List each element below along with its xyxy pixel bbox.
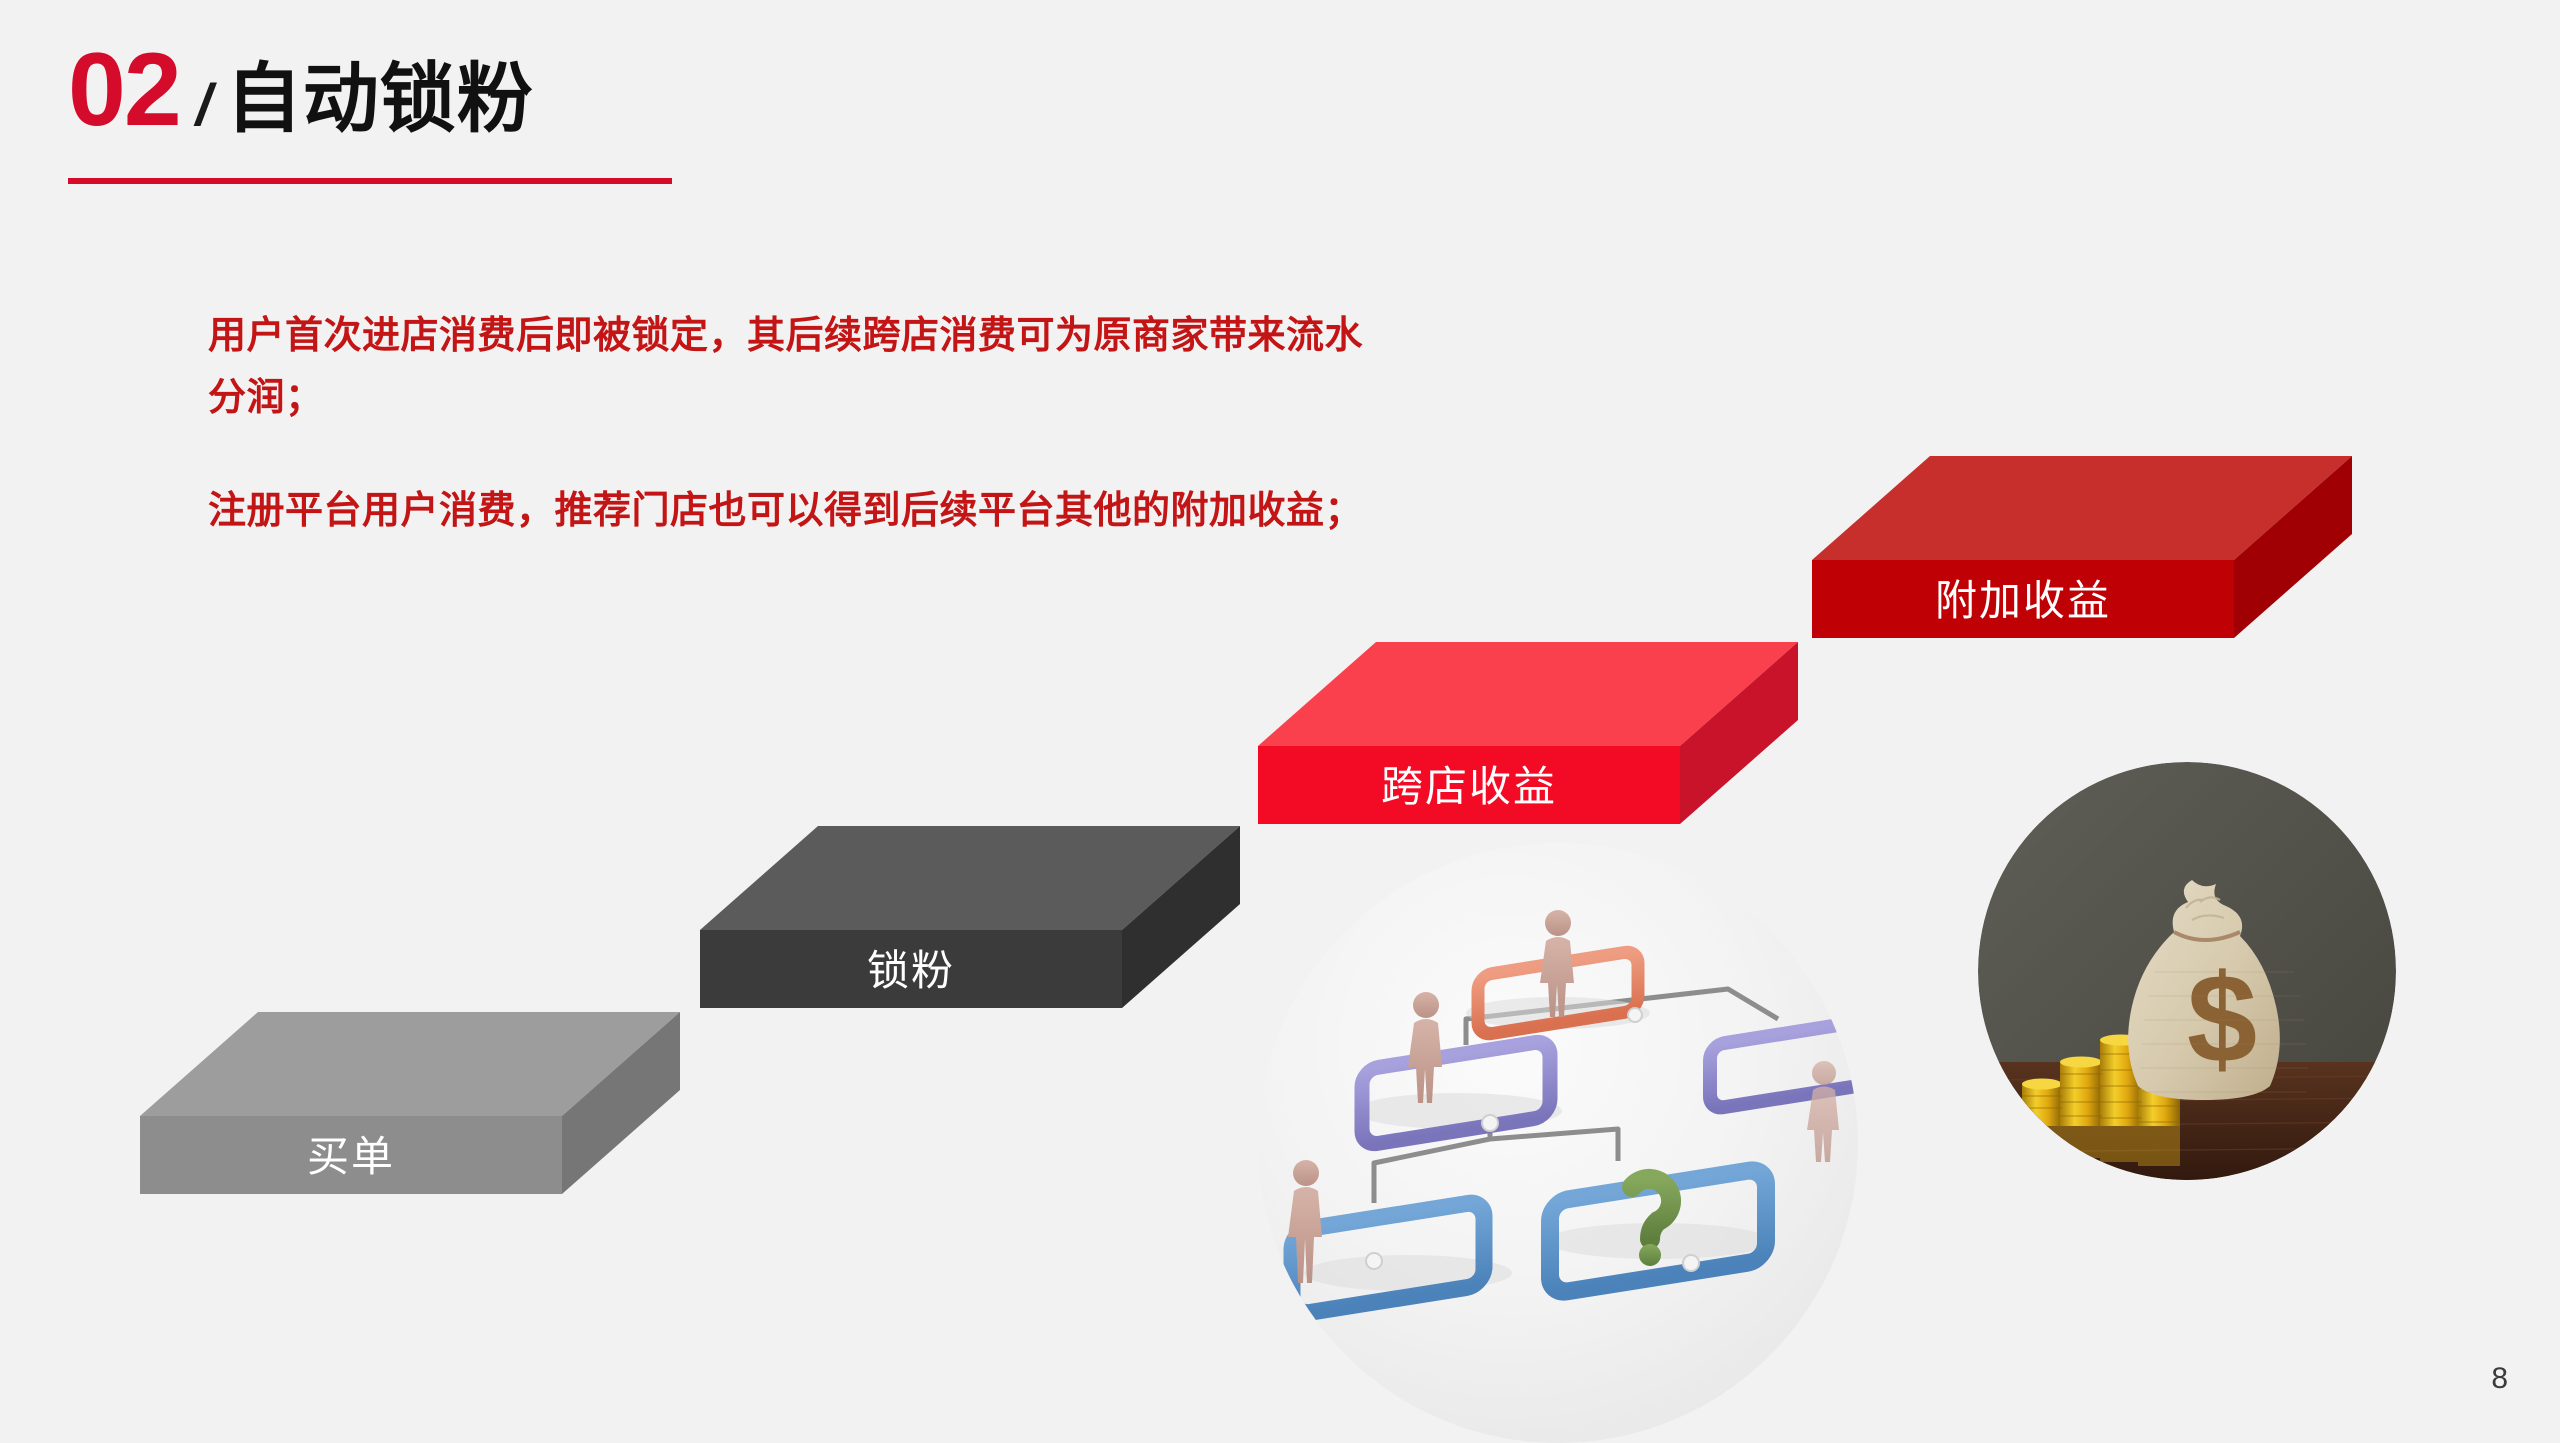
step-block-4[interactable]: 附加收益 [1812,452,2352,642]
step-2-label: 锁粉 [700,934,1122,1008]
frame-purple-right [1710,1021,1858,1110]
human-figure-left [1408,992,1442,1103]
human-figure-right [1807,1061,1839,1162]
step-block-3[interactable]: 跨店收益 [1258,638,1798,828]
frame-purple-left [1362,1040,1550,1146]
step-3-label: 跨店收益 [1258,750,1680,824]
slide-canvas: 02 / 自动锁粉 用户首次进店消费后即被锁定，其后续跨店消费可为原商家带来流水… [0,0,2560,1440]
step-1-label: 买单 [140,1120,562,1194]
step-block-1[interactable]: 买单 [140,1008,680,1198]
money-bag-coins-photo: $ [1978,762,2396,1180]
step-4-label: 附加收益 [1812,564,2234,638]
org-chart-network-photo [1258,843,1858,1443]
page-number: 8 [2491,1362,2508,1396]
step-block-2[interactable]: 锁粉 [700,822,1240,1012]
